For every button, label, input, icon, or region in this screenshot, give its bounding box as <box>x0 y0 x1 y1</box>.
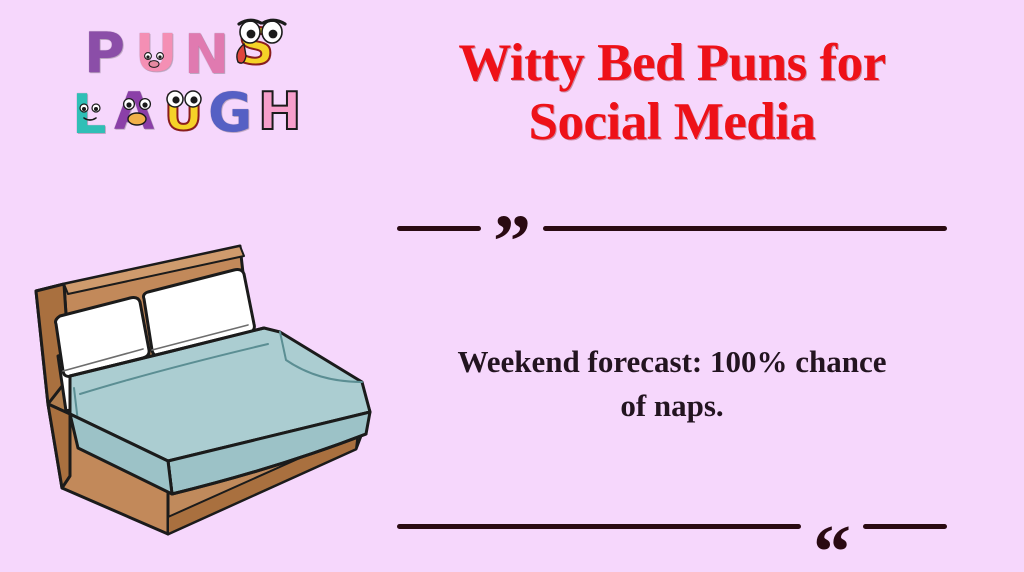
puns-laugh-logo[interactable]: P U N S <box>72 22 302 150</box>
logo-letter-g: G <box>208 86 252 140</box>
logo-letter-a-face-icon <box>118 96 160 130</box>
divider-bottom: “ <box>372 498 972 554</box>
logo-letter-s-eyes-icon <box>232 18 292 44</box>
logo-letter-h: H <box>258 86 302 138</box>
logo-letter-n: N <box>184 28 229 82</box>
logo-letter-u2-eyes-icon <box>164 88 208 112</box>
logo-letter-u-face-icon <box>138 48 178 72</box>
divider-top-rule-long <box>543 226 947 231</box>
divider-top-rule-short <box>397 226 481 231</box>
divider-bottom-rule-long <box>397 524 801 529</box>
logo-letter-s-tongue-icon <box>232 42 258 68</box>
logo-letter-p: P <box>84 26 125 82</box>
pun-quote-text: Weekend forecast: 100% chance of naps. <box>382 340 962 428</box>
pun-quote-line-2: of naps. <box>620 388 723 423</box>
divider-bottom-rule-short <box>863 524 947 529</box>
pun-graphic-canvas: P U N S <box>0 0 1024 572</box>
page-title: Witty Bed Puns for Social Media <box>372 34 972 153</box>
logo-row-laugh: L A U G H <box>72 80 302 144</box>
logo-letter-l-face-icon <box>76 100 110 128</box>
page-title-line-1: Witty Bed Puns for <box>372 34 972 93</box>
page-title-line-2: Social Media <box>372 93 972 152</box>
divider-top: ” <box>372 200 972 256</box>
logo-row-puns: P U N S <box>72 22 302 86</box>
bed-illustration <box>18 236 388 536</box>
pun-quote-line-1: Weekend forecast: 100% chance <box>457 344 886 379</box>
